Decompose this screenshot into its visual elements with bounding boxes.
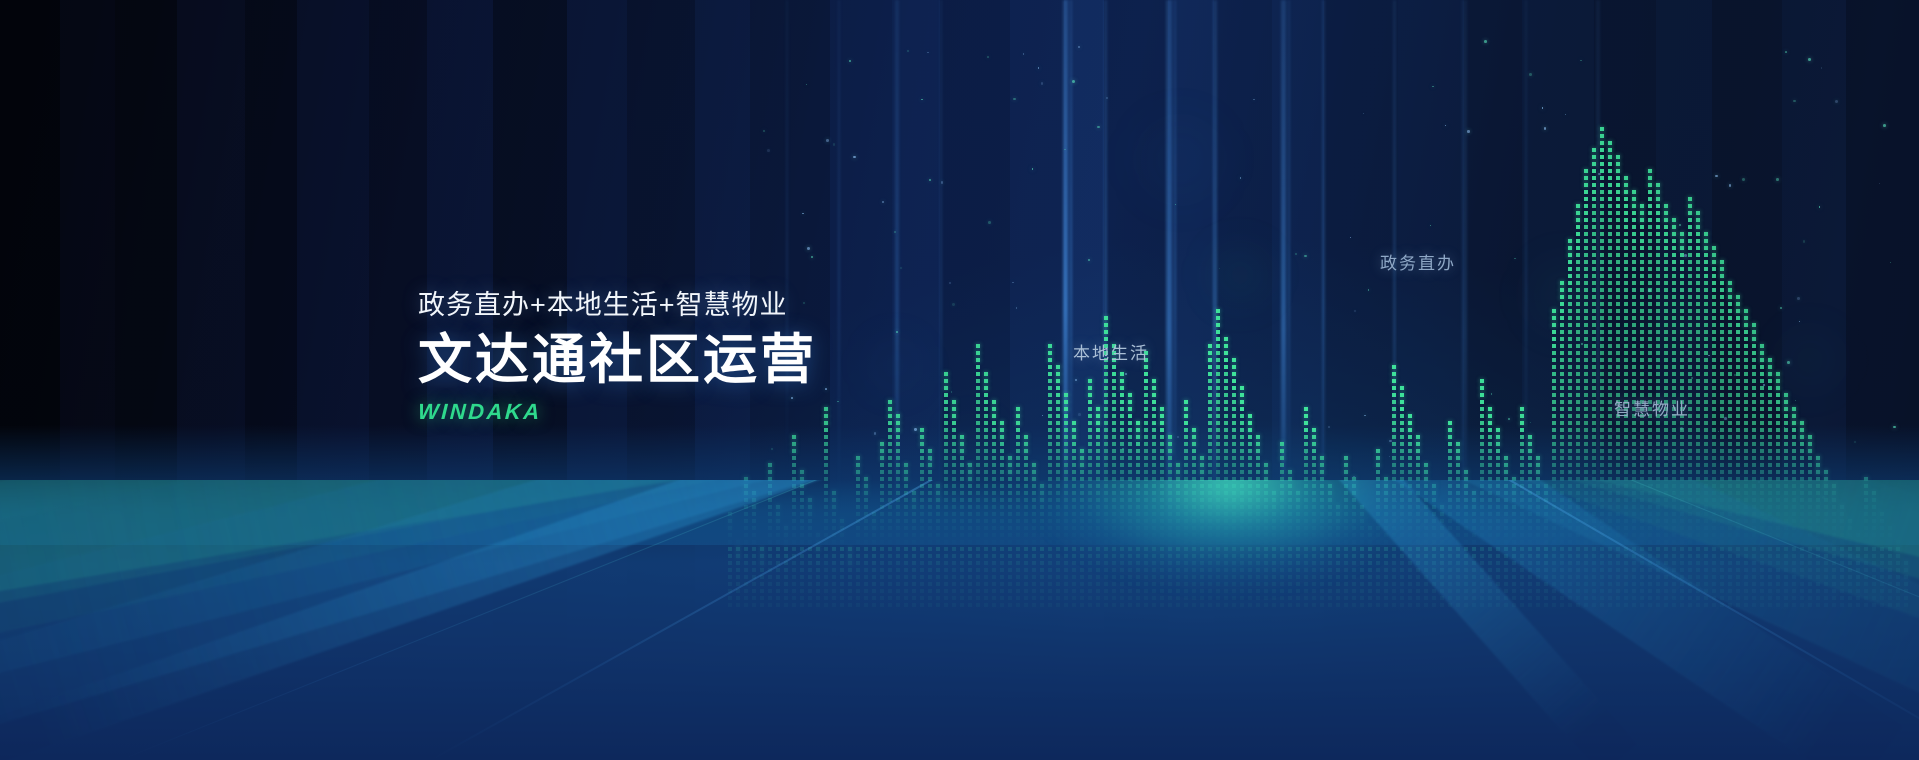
skyline-dot: [1184, 421, 1188, 425]
skyline-dot: [1392, 435, 1396, 439]
skyline-dot: [1616, 239, 1620, 243]
skyline-dot: [1128, 407, 1132, 411]
skyline-dot: [880, 449, 884, 453]
skyline-dot: [1568, 351, 1572, 355]
skyline-dot: [1624, 218, 1628, 222]
skyline-dot: [944, 463, 948, 467]
skyline-dot: [992, 470, 996, 474]
skyline-dot: [1144, 435, 1148, 439]
skyline-dot: [1072, 449, 1076, 453]
skyline-dot: [952, 463, 956, 467]
skyline-dot: [1504, 463, 1508, 467]
skyline-dot: [1192, 470, 1196, 474]
skyline-dot: [1304, 435, 1308, 439]
skyline-dot: [1672, 218, 1676, 222]
skyline-dot: [1704, 414, 1708, 418]
skyline-dot: [1640, 379, 1644, 383]
skyline-dot: [1744, 470, 1748, 474]
skyline-dot: [1712, 456, 1716, 460]
skyline-dot: [1488, 428, 1492, 432]
skyline-dot: [1664, 253, 1668, 257]
skyline-dot: [1728, 288, 1732, 292]
skyline-dot: [1560, 407, 1564, 411]
skyline-dot: [960, 470, 964, 474]
skyline-dot: [1008, 470, 1012, 474]
skyline-dot: [1584, 365, 1588, 369]
skyline-dot: [1160, 414, 1164, 418]
skyline-dot: [1080, 449, 1084, 453]
skyline-dot: [1016, 435, 1020, 439]
skyline-dot: [1376, 470, 1380, 474]
skyline-dot: [1080, 470, 1084, 474]
skyline-dot: [1120, 372, 1124, 376]
skyline-dot: [1248, 421, 1252, 425]
skyline-dot: [1736, 309, 1740, 313]
skyline-dot: [1088, 386, 1092, 390]
skyline-dot: [1192, 442, 1196, 446]
skyline-dot: [1784, 449, 1788, 453]
skyline-dot: [1304, 421, 1308, 425]
skyline-dot: [1608, 330, 1612, 334]
skyline-dot: [1240, 428, 1244, 432]
skyline-dot: [1632, 456, 1636, 460]
skyline-dot: [1584, 218, 1588, 222]
skyline-dot: [1224, 470, 1228, 474]
skyline-dot: [1664, 267, 1668, 271]
skyline-dot: [1616, 344, 1620, 348]
skyline-dot: [1632, 358, 1636, 362]
skyline-dot: [1088, 421, 1092, 425]
skyline-dot: [1616, 428, 1620, 432]
skyline-dot: [1576, 232, 1580, 236]
skyline-dot: [1080, 456, 1084, 460]
skyline-dot: [1568, 379, 1572, 383]
skyline-dot: [1600, 302, 1604, 306]
skyline-dot: [1088, 400, 1092, 404]
skyline-dot: [1600, 365, 1604, 369]
skyline-dot: [1048, 372, 1052, 376]
skyline-dot: [1048, 421, 1052, 425]
skyline-dot: [1664, 442, 1668, 446]
skyline-dot: [1568, 344, 1572, 348]
skyline-dot: [1344, 470, 1348, 474]
skyline-dot: [1576, 463, 1580, 467]
skyline-dot: [1240, 449, 1244, 453]
skyline-dot: [1480, 421, 1484, 425]
skyline-dot: [1616, 218, 1620, 222]
skyline-dot: [976, 365, 980, 369]
skyline-dot: [1280, 449, 1284, 453]
skyline-dot: [1000, 449, 1004, 453]
skyline-dot: [1632, 309, 1636, 313]
skyline-dot: [1600, 309, 1604, 313]
skyline-dot: [1688, 379, 1692, 383]
skyline-dot: [1616, 435, 1620, 439]
skyline-dot: [984, 372, 988, 376]
skyline-dot: [1576, 449, 1580, 453]
skyline-dot: [1232, 386, 1236, 390]
skyline-dot: [1216, 337, 1220, 341]
skyline-dot: [1680, 295, 1684, 299]
skyline-dot: [1800, 442, 1804, 446]
skyline-dot: [1592, 204, 1596, 208]
skyline-dot: [1712, 309, 1716, 313]
skyline-dot: [984, 456, 988, 460]
skyline-dot: [1624, 302, 1628, 306]
skyline-dot: [1424, 463, 1428, 467]
skyline-dot: [1656, 204, 1660, 208]
skyline-dot: [1120, 442, 1124, 446]
skyline-dot: [1632, 386, 1636, 390]
skyline-dot: [1648, 421, 1652, 425]
skyline-dot: [944, 442, 948, 446]
skyline-dot: [856, 463, 860, 467]
skyline-dot: [1616, 190, 1620, 194]
skyline-dot: [1632, 239, 1636, 243]
skyline-dot: [1584, 393, 1588, 397]
skyline-dot: [1568, 456, 1572, 460]
skyline-dot: [1552, 337, 1556, 341]
skyline-dot: [1736, 400, 1740, 404]
skyline-dot: [1600, 379, 1604, 383]
skyline-dot: [1112, 414, 1116, 418]
skyline-dot: [1568, 281, 1572, 285]
skyline-dot: [1632, 435, 1636, 439]
skyline-dot: [920, 456, 924, 460]
skyline-dot: [1048, 470, 1052, 474]
skyline-dot: [992, 435, 996, 439]
skyline-dot: [1672, 309, 1676, 313]
skyline-dot: [1704, 239, 1708, 243]
skyline-dot: [1528, 470, 1532, 474]
skyline-dot: [1056, 449, 1060, 453]
skyline-dot: [984, 449, 988, 453]
skyline-dot: [1560, 386, 1564, 390]
skyline-dot: [1088, 407, 1092, 411]
skyline-dot: [1592, 155, 1596, 159]
skyline-dot: [1752, 414, 1756, 418]
skyline-dot: [1728, 323, 1732, 327]
skyline-dot: [1688, 211, 1692, 215]
skyline-dot: [1704, 449, 1708, 453]
skyline-dot: [1568, 449, 1572, 453]
skyline-dot: [1144, 456, 1148, 460]
skyline-dot: [1608, 400, 1612, 404]
perspective-ground: [0, 480, 1919, 760]
skyline-dot: [1456, 470, 1460, 474]
skyline-dot: [1120, 393, 1124, 397]
skyline-dot: [976, 400, 980, 404]
skyline-dot: [1624, 190, 1628, 194]
skyline-dot: [1592, 183, 1596, 187]
skyline-dot: [1656, 253, 1660, 257]
skyline-dot: [1688, 295, 1692, 299]
skyline-dot: [1152, 421, 1156, 425]
skyline-dot: [1416, 456, 1420, 460]
skyline-dot: [1664, 274, 1668, 278]
skyline-dot: [1672, 470, 1676, 474]
skyline-dot: [1712, 407, 1716, 411]
skyline-dot: [1632, 323, 1636, 327]
skyline-dot: [1208, 442, 1212, 446]
skyline-dot: [1112, 428, 1116, 432]
skyline-dot: [1696, 449, 1700, 453]
skyline-dot: [1536, 463, 1540, 467]
skyline-dot: [1680, 449, 1684, 453]
skyline-dot: [1048, 435, 1052, 439]
skyline-dot: [1616, 337, 1620, 341]
skyline-dot: [1592, 218, 1596, 222]
skyline-dot: [1672, 316, 1676, 320]
skyline-dot: [1760, 400, 1764, 404]
skyline-dot: [1712, 344, 1716, 348]
skyline-dot: [1064, 428, 1068, 432]
skyline-dot: [1680, 456, 1684, 460]
skyline-dot: [1560, 351, 1564, 355]
skyline-dot: [1728, 428, 1732, 432]
skyline-dot: [1200, 456, 1204, 460]
skyline-dot: [1728, 386, 1732, 390]
skyline-dot: [1480, 400, 1484, 404]
skyline-dot: [1232, 463, 1236, 467]
skyline-dot: [952, 414, 956, 418]
skyline-dot: [1608, 435, 1612, 439]
skyline-dot: [1752, 463, 1756, 467]
skyline-dot: [1608, 148, 1612, 152]
skyline-dot: [1648, 344, 1652, 348]
skyline-dot: [1576, 274, 1580, 278]
skyline-dot: [1648, 232, 1652, 236]
skyline-dot: [1048, 365, 1052, 369]
skyline-dot: [1048, 442, 1052, 446]
skyline-dot: [1048, 414, 1052, 418]
skyline-dot: [1240, 456, 1244, 460]
skyline-dot: [1112, 456, 1116, 460]
skyline-dot: [896, 442, 900, 446]
skyline-dot: [1120, 435, 1124, 439]
skyline-dot: [1632, 470, 1636, 474]
skyline-dot: [1632, 316, 1636, 320]
skyline-dot: [1600, 337, 1604, 341]
skyline-dot: [1224, 414, 1228, 418]
skyline-dot: [1792, 470, 1796, 474]
skyline-dot: [1584, 302, 1588, 306]
skyline-dot: [1688, 463, 1692, 467]
skyline-dot: [1192, 449, 1196, 453]
skyline-dot: [1648, 470, 1652, 474]
skyline-dot: [1000, 470, 1004, 474]
skyline-dot: [1632, 190, 1636, 194]
skyline-dot: [1616, 463, 1620, 467]
skyline-dot: [1248, 470, 1252, 474]
skyline-dot: [952, 470, 956, 474]
skyline-dot: [1048, 428, 1052, 432]
skyline-dot: [1680, 463, 1684, 467]
skyline-dot: [1128, 421, 1132, 425]
skyline-dot: [1184, 435, 1188, 439]
skyline-dot: [1128, 449, 1132, 453]
skyline-dot: [1704, 400, 1708, 404]
skyline-dot: [1720, 351, 1724, 355]
skyline-dot: [1400, 470, 1404, 474]
skyline-dot: [1568, 316, 1572, 320]
skyline-dot: [1656, 435, 1660, 439]
skyline-dot: [1584, 309, 1588, 313]
skyline-dot: [1632, 365, 1636, 369]
skyline-dot: [1104, 372, 1108, 376]
skyline-dot: [1600, 183, 1604, 187]
skyline-dot: [1696, 330, 1700, 334]
skyline-dot: [1576, 470, 1580, 474]
skyline-dot: [1696, 414, 1700, 418]
skyline-dot: [1672, 386, 1676, 390]
skyline-dot: [1624, 253, 1628, 257]
skyline-dot: [1624, 428, 1628, 432]
skyline-dot: [1248, 442, 1252, 446]
skyline-dot: [1616, 169, 1620, 173]
skyline-dot: [1392, 456, 1396, 460]
skyline-dot: [928, 463, 932, 467]
skyline-dot: [1136, 463, 1140, 467]
skyline-dot: [1720, 330, 1724, 334]
skyline-dot: [1056, 421, 1060, 425]
skyline-dot: [992, 414, 996, 418]
skyline-dot: [1688, 456, 1692, 460]
skyline-dot: [1000, 463, 1004, 467]
skyline-dot: [1576, 239, 1580, 243]
skyline-dot: [1624, 449, 1628, 453]
skyline-dot: [1688, 323, 1692, 327]
skyline-dot: [896, 449, 900, 453]
skyline-dot: [1712, 428, 1716, 432]
skyline-dot: [1760, 463, 1764, 467]
skyline-dot: [1640, 330, 1644, 334]
skyline-dot: [1632, 274, 1636, 278]
skyline-dot: [1608, 442, 1612, 446]
skyline-dot: [1216, 442, 1220, 446]
skyline-dot: [1592, 344, 1596, 348]
skyline-dot: [1720, 260, 1724, 264]
skyline-dot: [1056, 372, 1060, 376]
skyline-dot: [1808, 456, 1812, 460]
skyline-dot: [1600, 197, 1604, 201]
skyline-dot: [1552, 330, 1556, 334]
skyline-dot: [1104, 393, 1108, 397]
skyline-dot: [1592, 225, 1596, 229]
banner-title: 文达通社区运营: [418, 329, 817, 393]
skyline-dot: [1112, 400, 1116, 404]
skyline-dot: [1600, 127, 1604, 131]
skyline-dot: [1656, 211, 1660, 215]
skyline-dot: [1664, 302, 1668, 306]
skyline-dot: [1688, 260, 1692, 264]
skyline-dot: [1776, 393, 1780, 397]
skyline-dot: [1768, 365, 1772, 369]
skyline-dot: [1552, 463, 1556, 467]
skyline-dot: [1568, 323, 1572, 327]
skyline-dot: [1600, 442, 1604, 446]
skyline-dot: [1160, 435, 1164, 439]
skyline-dot: [1632, 253, 1636, 257]
skyline-dot: [1704, 302, 1708, 306]
skyline-dot: [1240, 435, 1244, 439]
skyline-dot: [1232, 456, 1236, 460]
skyline-dot: [1568, 337, 1572, 341]
skyline-dot: [1592, 260, 1596, 264]
skyline-dot: [1608, 337, 1612, 341]
skyline-dot: [1664, 449, 1668, 453]
skyline-dot: [1672, 421, 1676, 425]
skyline-dot: [888, 400, 892, 404]
skyline-dot: [1576, 428, 1580, 432]
skyline-dot: [1664, 351, 1668, 355]
skyline-dot: [1592, 421, 1596, 425]
skyline-dot: [1656, 232, 1660, 236]
skyline-dot: [1496, 435, 1500, 439]
skyline-dot: [1680, 372, 1684, 376]
skyline-dot: [1280, 470, 1284, 474]
skyline-dot: [1680, 316, 1684, 320]
skyline-dot: [976, 435, 980, 439]
skyline-dot: [904, 463, 908, 467]
skyline-dot: [1728, 316, 1732, 320]
skyline-dot: [1576, 309, 1580, 313]
skyline-dot: [1144, 407, 1148, 411]
skyline-dot: [1648, 183, 1652, 187]
skyline-dot: [1584, 456, 1588, 460]
skyline-dot: [1120, 379, 1124, 383]
skyline-dot: [1480, 393, 1484, 397]
skyline-dot: [1648, 204, 1652, 208]
brand-wordmark: WINDAKA: [417, 399, 542, 425]
skyline-dot: [1232, 372, 1236, 376]
skyline-dot: [1760, 407, 1764, 411]
skyline-dot: [1112, 372, 1116, 376]
skyline-dot: [888, 435, 892, 439]
skyline-dot: [888, 428, 892, 432]
skyline-dot: [984, 407, 988, 411]
skyline-dot: [1600, 407, 1604, 411]
skyline-dot: [1552, 400, 1556, 404]
skyline-dot: [1712, 442, 1716, 446]
skyline-dot: [888, 470, 892, 474]
skyline-dot: [1680, 442, 1684, 446]
skyline-dot: [1576, 456, 1580, 460]
skyline-dot: [1720, 428, 1724, 432]
skyline-dot: [1552, 435, 1556, 439]
skyline-dot: [1712, 449, 1716, 453]
skyline-dot: [1152, 414, 1156, 418]
skyline-dot: [1112, 470, 1116, 474]
skyline-dot: [1696, 316, 1700, 320]
skyline-dot: [1408, 435, 1412, 439]
skyline-dot: [1608, 190, 1612, 194]
skyline-dot: [1752, 386, 1756, 390]
skyline-dot: [1592, 309, 1596, 313]
skyline-dot: [1600, 274, 1604, 278]
skyline-dot: [1240, 393, 1244, 397]
skyline-dot: [992, 449, 996, 453]
skyline-dot: [1240, 470, 1244, 474]
skyline-dot: [1312, 463, 1316, 467]
skyline-dot: [1656, 330, 1660, 334]
skyline-dot: [1128, 428, 1132, 432]
skyline-dot: [1592, 428, 1596, 432]
skyline-dot: [1696, 246, 1700, 250]
skyline-dot: [1696, 372, 1700, 376]
skyline-dot: [1592, 470, 1596, 474]
skyline-dot: [856, 470, 860, 474]
